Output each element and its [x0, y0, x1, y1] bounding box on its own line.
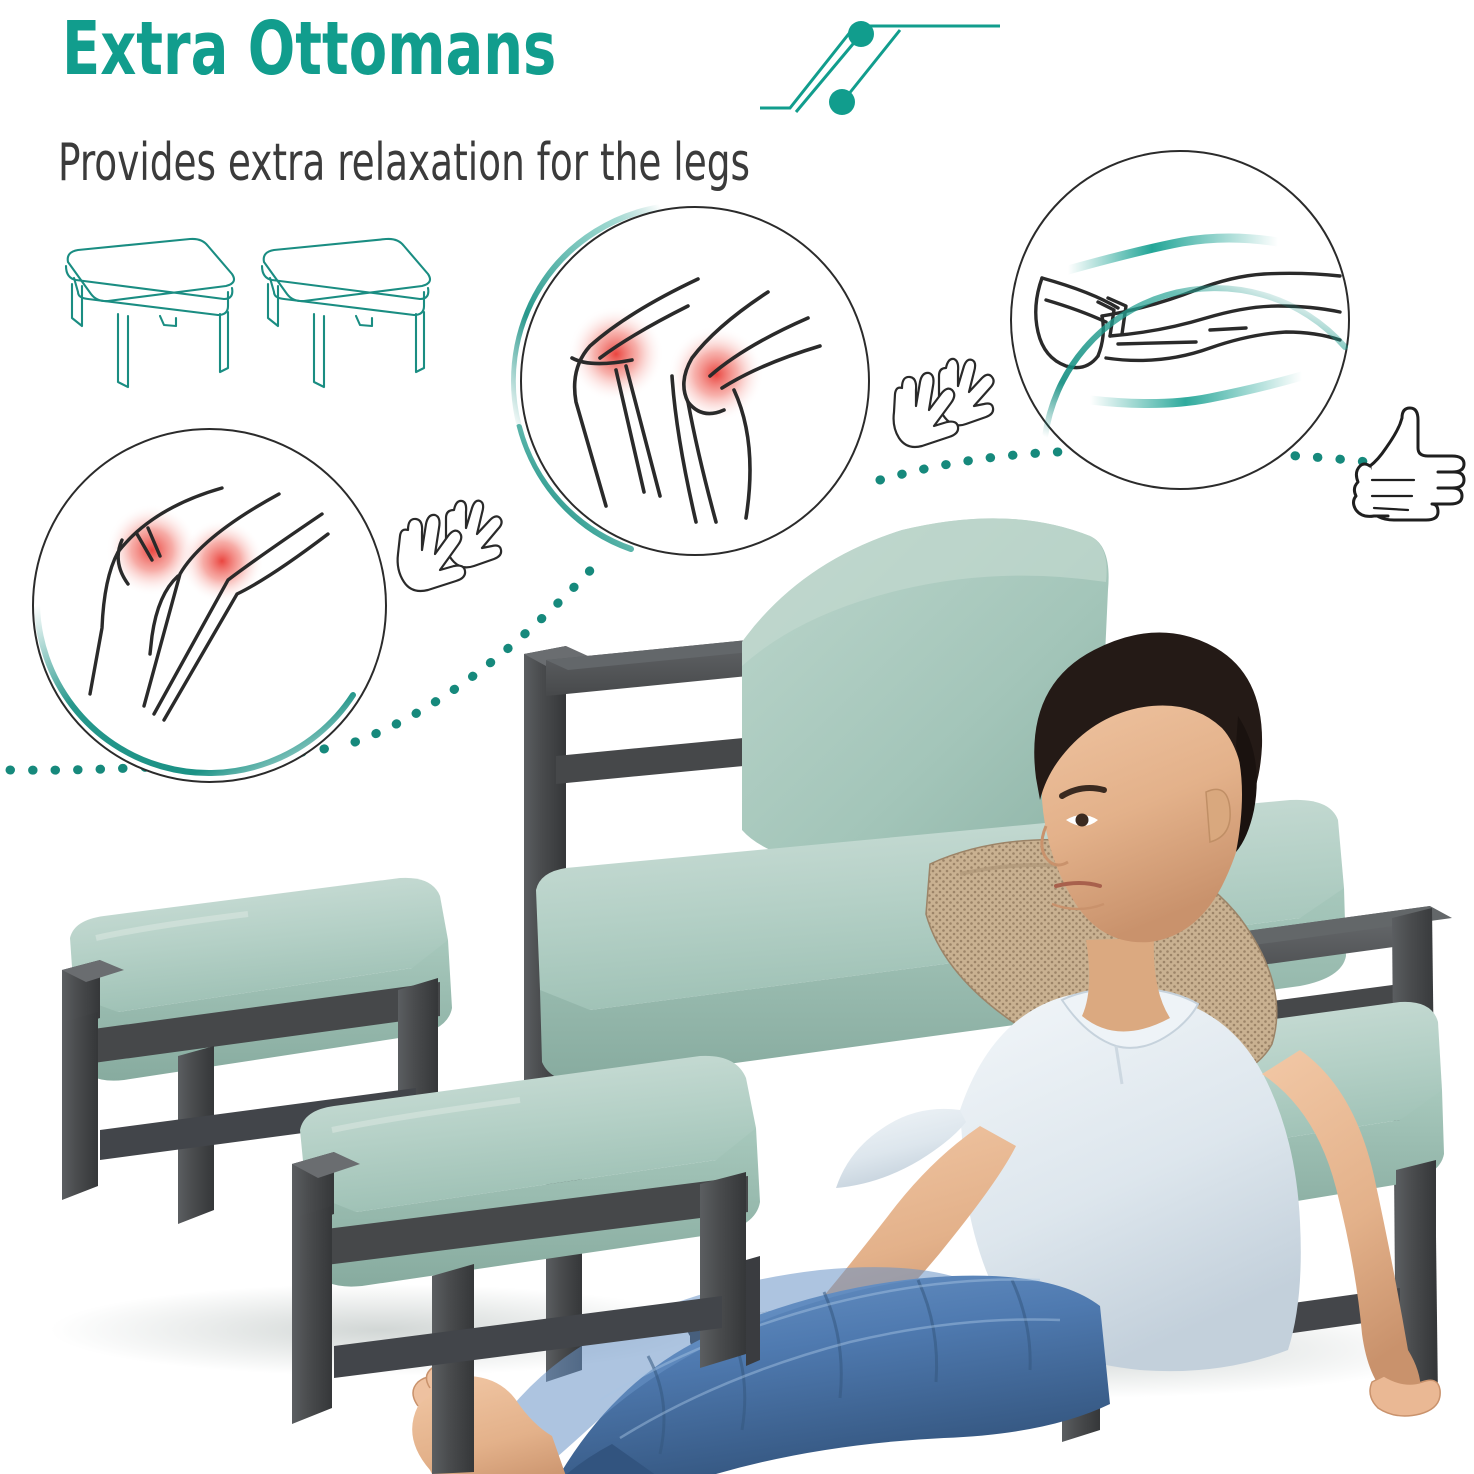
comfort-line-top	[1068, 238, 1278, 270]
ottoman-leg	[292, 1206, 332, 1424]
ottoman-outline-1	[66, 239, 234, 387]
extended-leg-relaxed-icon	[1010, 150, 1350, 490]
page-subtitle: Provides extra relaxation for the legs	[58, 133, 750, 193]
bubble-leg-relaxed	[1010, 150, 1350, 490]
remote-label: Remote	[0, 0, 4, 1]
ottoman-leg	[432, 1264, 474, 1474]
header-deco-icon	[760, 0, 1000, 130]
ottoman-outline-2	[262, 239, 430, 387]
ottoman-leg	[62, 1012, 98, 1200]
infographic-canvas: Extra Ottomans Provides extra relaxation…	[0, 0, 1474, 1474]
open-hands-stop-icon	[878, 352, 1000, 462]
comfort-line-bottom	[1090, 376, 1302, 404]
product-photo	[0, 470, 1474, 1474]
ottoman-outline-icons	[42, 222, 462, 402]
ottoman-leg	[700, 1172, 746, 1368]
page-title: Extra Ottomans	[62, 6, 556, 92]
